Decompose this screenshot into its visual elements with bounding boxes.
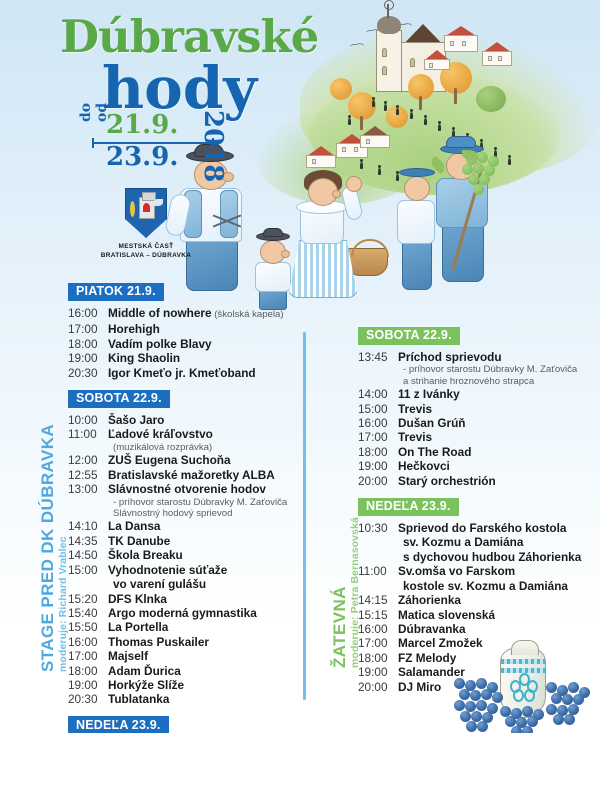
event-title: Salamander (398, 665, 465, 679)
schedule-rows: 10:30Sprievod do Farského kostolasv. Koz… (358, 521, 594, 694)
event-title-text: Príchod sprievodu (398, 350, 502, 364)
musician-figure-2 (394, 166, 442, 292)
event-title-text: Vadím polke Blavy (108, 337, 212, 351)
event-note: (školská kapela) (212, 309, 284, 320)
sponsor-footer (0, 733, 600, 810)
schedule-row: 11:00Ľadové kráľovstvo (68, 427, 316, 441)
event-time: 15:00 (68, 563, 108, 577)
event-title: Šašo Jaro (108, 413, 164, 427)
schedule-row: 19:00Salamander (358, 665, 594, 679)
event-title: Ľadové kráľovstvo (108, 427, 213, 441)
event-title: TK Danube (108, 534, 170, 548)
schedule-row: 17:00Horehigh (68, 322, 316, 336)
date-to: 23.9. (106, 142, 178, 172)
event-title: Middle of nowhere (školská kapela) (108, 306, 284, 322)
event-time: 19:00 (68, 678, 108, 692)
schedule-column-left: PIATOK 21.9.16:00Middle of nowhere (škol… (68, 282, 316, 804)
clay-jug-small (311, 229, 346, 276)
schedule-row: 18:00Vadím polke Blavy (68, 337, 316, 351)
musician-figure-1 (432, 134, 512, 294)
schedule-row: 19:00Horkýže Slíže (68, 678, 316, 692)
event-title: Horehigh (108, 322, 160, 336)
event-detail: - príhovor starostu Dúbravky M. Zaťoviča (358, 364, 594, 375)
event-time: 15:20 (68, 592, 108, 606)
event-title-text: Dušan Grúň (398, 416, 466, 430)
event-time: 10:30 (358, 521, 398, 535)
event-title-text: La Portella (108, 620, 168, 634)
event-time: 17:00 (358, 430, 398, 444)
event-title-text: Slávnostné otvorenie hodov (108, 482, 266, 496)
event-time: 12:00 (68, 453, 108, 467)
event-time: 18:00 (68, 664, 108, 678)
event-title: Thomas Puskailer (108, 635, 209, 649)
schedule-row: 18:00On The Road (358, 445, 594, 459)
schedule-row: 12:55Bratislavské mažoretky ALBA (68, 468, 316, 482)
event-title: Bratislavské mažoretky ALBA (108, 468, 275, 482)
event-title: King Shaolin (108, 351, 180, 365)
schedule-row: 15:15Matica slovenská (358, 608, 594, 622)
schedule-column-right: SOBOTA 22.9.13:45Príchod sprievodu- príh… (358, 326, 594, 701)
event-time: 14:10 (68, 519, 108, 533)
schedule-row: 19:00Hečkovci (358, 459, 594, 473)
stage-left-vertical-label: STAGE PRED DK DÚBRAVKA moderuje: Richard… (38, 424, 69, 672)
event-time: 15:15 (358, 608, 398, 622)
schedule-row: 13:00Slávnostné otvorenie hodov (68, 482, 316, 496)
event-title: DFS Klnka (108, 592, 167, 606)
event-title: Marcel Zmožek (398, 636, 483, 650)
event-title-text: Horehigh (108, 322, 160, 336)
event-title: Argo moderná gymnastika (108, 606, 257, 620)
event-title-continued: sv. Kozmu a Damiána (358, 535, 594, 549)
event-time: 15:00 (358, 402, 398, 416)
event-title: Trevis (398, 430, 432, 444)
event-time: 11:00 (68, 427, 108, 441)
event-time: 19:00 (358, 665, 398, 679)
poster-title: Dúbravské hody (60, 14, 360, 114)
schedule-row: 14:15Záhorienka (358, 593, 594, 607)
event-title-text: Trevis (398, 430, 432, 444)
schedule-rows: 13:45Príchod sprievodu- príhovor starost… (358, 350, 594, 488)
crest-caption-line2: BRATISLAVA – DÚBRAVKA (98, 251, 194, 260)
event-title-continued: s dychovou hudbou Záhorienka (358, 550, 594, 564)
date-from: 21.9. (106, 110, 178, 140)
event-title-text: On The Road (398, 445, 471, 459)
event-title-text: Vyhodnotenie súťaže (108, 563, 227, 577)
event-time: 18:00 (358, 445, 398, 459)
schedule-row: 18:00FZ Melody (358, 651, 594, 665)
basket-icon (346, 248, 388, 276)
municipality-crest-block: MESTSKÁ ČASŤ BRATISLAVA – DÚBRAVKA (98, 188, 194, 260)
coat-of-arms-icon (125, 188, 167, 238)
event-title-text: La Dansa (108, 519, 160, 533)
event-dates: do od 21.9. 23.9. 2018 (78, 112, 258, 174)
event-title-text: Dúbravanka (398, 622, 466, 636)
section-date-badge: SOBOTA 22.9. (358, 327, 460, 346)
event-time: 19:00 (358, 459, 398, 473)
schedule-row: 15:00Trevis (358, 402, 594, 416)
event-title-text: Hečkovci (398, 459, 450, 473)
schedule-row: 17:00Trevis (358, 430, 594, 444)
event-time: 20:30 (68, 692, 108, 706)
event-title: Starý orchestrión (398, 474, 496, 488)
event-title-text: Škola Breaku (108, 548, 183, 562)
event-title-text: Horkýže Slíže (108, 678, 184, 692)
schedule-row: 15:40Argo moderná gymnastika (68, 606, 316, 620)
event-title: Sprievod do Farského kostola (398, 521, 566, 535)
event-title: Príchod sprievodu (398, 350, 502, 364)
event-title-text: Adam Ďurica (108, 664, 181, 678)
crest-caption-line1: MESTSKÁ ČASŤ (98, 242, 194, 251)
event-title-text: Igor Kmeťo jr. Kmeťoband (108, 366, 256, 380)
event-title: Matica slovenská (398, 608, 495, 622)
event-title-text: DJ Miro (398, 680, 441, 694)
schedule-row: 14:10La Dansa (68, 519, 316, 533)
schedule-rows: 10:00Šašo Jaro11:00Ľadové kráľovstvo(muz… (68, 413, 316, 707)
event-time: 11:00 (358, 564, 398, 578)
schedule-row: 20:30Igor Kmeťo jr. Kmeťoband (68, 366, 316, 380)
event-title: Horkýže Slíže (108, 678, 184, 692)
schedule-row: 18:00Adam Ďurica (68, 664, 316, 678)
event-time: 15:50 (68, 620, 108, 634)
schedule-row: 12:00ZUŠ Eugena Suchoňa (68, 453, 316, 467)
schedule-rows: 16:00Middle of nowhere (školská kapela)1… (68, 306, 316, 380)
event-time: 12:55 (68, 468, 108, 482)
event-title: Dúbravanka (398, 622, 466, 636)
event-title-text: FZ Melody (398, 651, 456, 665)
event-title: DJ Miro (398, 680, 441, 694)
schedule-row: 16:00Thomas Puskailer (68, 635, 316, 649)
event-time: 13:00 (68, 482, 108, 496)
section-date-badge: SOBOTA 22.9. (68, 390, 170, 409)
schedule-row: 16:00Dúbravanka (358, 622, 594, 636)
schedule-row: 20:00Starý orchestrión (358, 474, 594, 488)
event-title: Tublatanka (108, 692, 169, 706)
section-date-badge: NEDEĽA 23.9. (68, 716, 169, 735)
schedule-row: 14:50Škola Breaku (68, 548, 316, 562)
event-time: 15:40 (68, 606, 108, 620)
event-detail: Slávnostný hodový sprievod (68, 508, 316, 519)
schedule-row: 14:0011 z Ivánky (358, 387, 594, 401)
event-title-text: King Shaolin (108, 351, 180, 365)
event-title: La Dansa (108, 519, 160, 533)
event-title: Sv.omša vo Farskom (398, 564, 515, 578)
event-time: 13:45 (358, 350, 398, 364)
schedule-row: 17:00Majself (68, 649, 316, 663)
schedule-row: 13:45Príchod sprievodu (358, 350, 594, 364)
event-time: 20:00 (358, 474, 398, 488)
event-title-text: Bratislavské mažoretky ALBA (108, 468, 275, 482)
stage-right-vertical-label: ŽATEVNÁ moderuje: Petra Bernasovská (330, 517, 361, 668)
stage-right-name: ŽATEVNÁ (330, 586, 350, 668)
event-title-text: Sprievod do Farského kostola (398, 521, 566, 535)
event-time: 14:00 (358, 387, 398, 401)
church-icon (370, 8, 450, 100)
event-title: Adam Ďurica (108, 664, 181, 678)
event-time: 18:00 (68, 337, 108, 351)
schedule-row: 10:00Šašo Jaro (68, 413, 316, 427)
label-do: do (78, 103, 94, 122)
event-title: Vadím polke Blavy (108, 337, 212, 351)
event-title-text: Argo moderná gymnastika (108, 606, 257, 620)
event-title-text: ZUŠ Eugena Suchoňa (108, 453, 231, 467)
event-title: Slávnostné otvorenie hodov (108, 482, 266, 496)
event-time: 19:00 (68, 351, 108, 365)
event-title: La Portella (108, 620, 168, 634)
section-date-badge: NEDEĽA 23.9. (358, 498, 459, 517)
schedule-section: SOBOTA 22.9.10:00Šašo Jaro11:00Ľadové kr… (68, 389, 316, 707)
section-date-badge: PIATOK 21.9. (68, 283, 164, 302)
title-line-2: hody (102, 62, 360, 114)
event-title-continued: kostole sv. Kozmu a Damiána (358, 579, 594, 593)
event-title-text: Salamander (398, 665, 465, 679)
event-title-text: Šašo Jaro (108, 413, 164, 427)
event-title-text: Tublatanka (108, 692, 169, 706)
event-title: ZUŠ Eugena Suchoňa (108, 453, 231, 467)
event-title: Majself (108, 649, 148, 663)
event-time: 14:15 (358, 593, 398, 607)
event-time: 16:00 (358, 622, 398, 636)
event-subnote: (muzikálová rozprávka) (68, 442, 316, 454)
event-time: 20:30 (68, 366, 108, 380)
event-title-text: Sv.omša vo Farskom (398, 564, 515, 578)
event-time: 17:00 (358, 636, 398, 650)
event-title-text: DFS Klnka (108, 592, 167, 606)
event-time: 17:00 (68, 322, 108, 336)
schedule-row: 16:00Dušan Grúň (358, 416, 594, 430)
schedule-row: 10:30Sprievod do Farského kostola (358, 521, 594, 535)
event-title: Dušan Grúň (398, 416, 466, 430)
folk-woman-figure (286, 162, 372, 300)
event-detail: - príhovor starostu Dúbravky M. Zaťoviča (68, 497, 316, 508)
schedule-row: 14:35TK Danube (68, 534, 316, 548)
schedule-row: 15:00Vyhodnotenie súťaže (68, 563, 316, 577)
event-title-text: Matica slovenská (398, 608, 495, 622)
schedule-section: NEDEĽA 23.9.10:30Sprievod do Farského ko… (358, 497, 594, 694)
event-title: Hečkovci (398, 459, 450, 473)
event-time: 14:50 (68, 548, 108, 562)
event-title-text: TK Danube (108, 534, 170, 548)
event-title: Záhorienka (398, 593, 461, 607)
event-title: FZ Melody (398, 651, 456, 665)
event-title: 11 z Ivánky (398, 387, 460, 401)
schedule-section: SOBOTA 22.9.13:45Príchod sprievodu- príh… (358, 326, 594, 488)
event-time: 14:35 (68, 534, 108, 548)
event-time: 16:00 (68, 306, 108, 320)
event-title: Trevis (398, 402, 432, 416)
event-time: 16:00 (68, 635, 108, 649)
event-time: 17:00 (68, 649, 108, 663)
event-title-text: Ľadové kráľovstvo (108, 427, 213, 441)
schedule-row: 20:30Tublatanka (68, 692, 316, 706)
event-title: Vyhodnotenie súťaže (108, 563, 227, 577)
schedule-row: 15:20DFS Klnka (68, 592, 316, 606)
schedule-section: PIATOK 21.9.16:00Middle of nowhere (škol… (68, 282, 316, 380)
event-time: 18:00 (358, 651, 398, 665)
event-title-text: Majself (108, 649, 148, 663)
event-title-text: Záhorienka (398, 593, 461, 607)
schedule-row: 19:00King Shaolin (68, 351, 316, 365)
schedule-row: 16:00Middle of nowhere (školská kapela) (68, 306, 316, 322)
event-title-continued: vo varení gulášu (68, 577, 316, 591)
schedule-row: 17:00Marcel Zmožek (358, 636, 594, 650)
event-year: 2018 (198, 110, 228, 182)
schedule-row: 11:00Sv.omša vo Farskom (358, 564, 594, 578)
event-title-text: Starý orchestrión (398, 474, 496, 488)
event-title-text: Middle of nowhere (108, 306, 212, 320)
event-title-text: Thomas Puskailer (108, 635, 209, 649)
event-title: Igor Kmeťo jr. Kmeťoband (108, 366, 256, 380)
stage-left-name: STAGE PRED DK DÚBRAVKA (38, 424, 58, 672)
event-time: 20:00 (358, 680, 398, 694)
event-title-text: Marcel Zmožek (398, 636, 483, 650)
event-title: On The Road (398, 445, 471, 459)
event-title-text: 11 z Ivánky (398, 387, 460, 401)
poster-canvas: Dúbravské hody do od 21.9. 23.9. 2018 ME… (0, 0, 600, 810)
schedule-row: 15:50La Portella (68, 620, 316, 634)
event-title-text: Trevis (398, 402, 432, 416)
event-title: Škola Breaku (108, 548, 183, 562)
event-time: 10:00 (68, 413, 108, 427)
event-detail: a strihanie hroznového strapca (358, 376, 594, 387)
event-time: 16:00 (358, 416, 398, 430)
schedule-row: 20:00DJ Miro (358, 680, 594, 694)
